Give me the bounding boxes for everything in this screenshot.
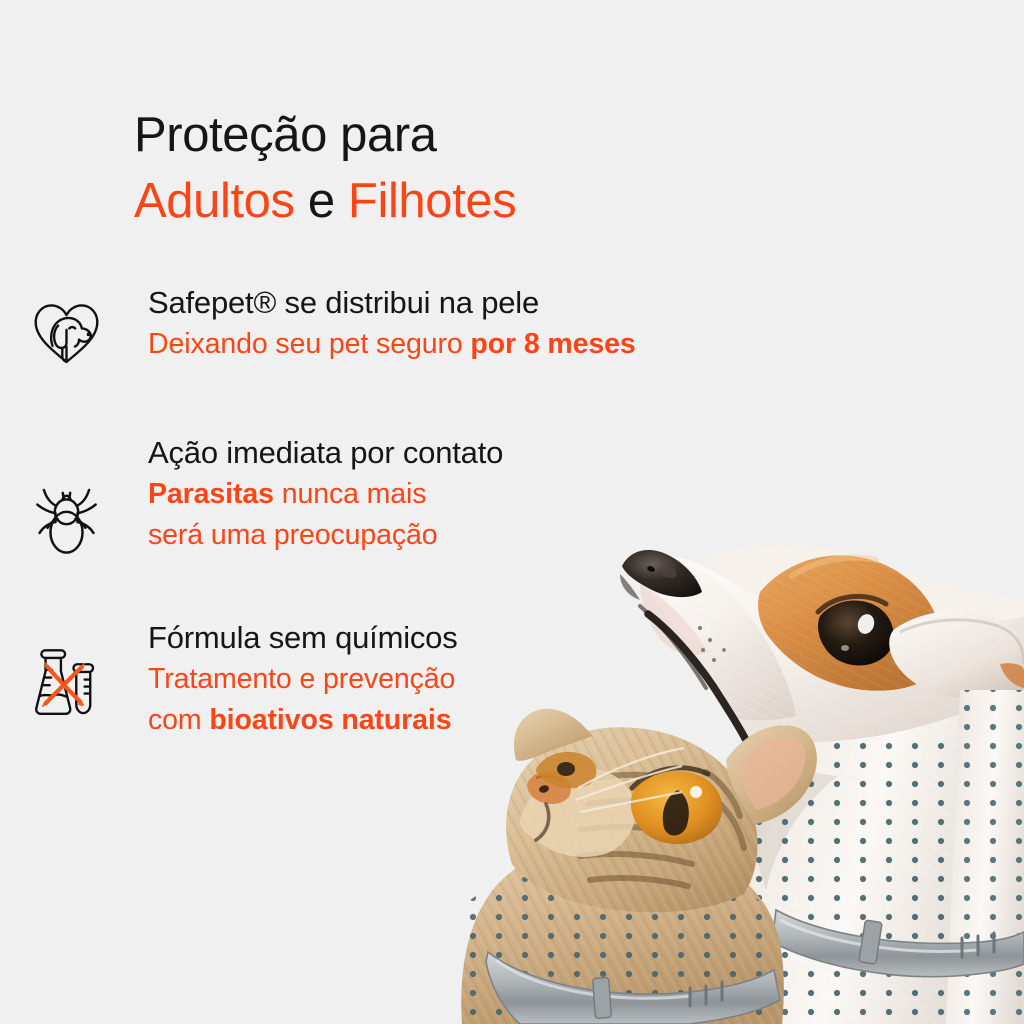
feature-item-chemical-free-formula: Fórmula sem químicos Tratamento e preven…	[0, 617, 880, 777]
feature-text-immediate-contact-action: Ação imediata por contato Parasitas nunc…	[100, 432, 880, 556]
feature-subtitle: Deixando seu pet seguro por 8 meses	[148, 324, 880, 365]
headline-line-2: Adultos e Filhotes	[134, 168, 914, 234]
feature-title: Ação imediata por contato	[148, 432, 880, 474]
feature-sub-bold: por 8 meses	[470, 328, 635, 360]
feature-text-skin-distribution: Safepet® se distribui na pele Deixando s…	[100, 282, 880, 365]
feature-title: Safepet® se distribui na pele	[148, 282, 880, 324]
cat-eye	[631, 768, 722, 844]
dog-collar	[772, 910, 1024, 977]
feature-sub-normal: com	[148, 704, 209, 736]
feature-subtitle-line-2: com bioativos naturais	[148, 700, 880, 741]
feature-item-skin-distribution: Safepet® se distribui na pele Deixando s…	[0, 282, 880, 432]
feature-text-chemical-free-formula: Fórmula sem químicos Tratamento e preven…	[100, 617, 880, 741]
cat-collar	[486, 952, 780, 1024]
feature-sub-bold: Parasitas	[148, 478, 274, 510]
feature-sub-bold: bioativos naturais	[209, 704, 451, 736]
headline-conjunction: e	[295, 174, 348, 228]
headline: Proteção para Adultos e Filhotes	[134, 102, 914, 234]
feature-subtitle-line-1: Parasitas nunca mais	[148, 474, 880, 515]
heart-dog-icon	[0, 282, 100, 380]
feature-sub-normal: Deixando seu pet seguro	[148, 328, 470, 360]
promo-poster: Proteção para Adultos e Filhotes	[0, 0, 1024, 1024]
headline-adultos: Adultos	[134, 174, 295, 228]
crossed-flask-icon	[0, 617, 100, 731]
feature-item-immediate-contact-action: Ação imediata por contato Parasitas nunc…	[0, 432, 880, 617]
tabby-stripes	[580, 772, 744, 886]
dot-pattern-cat	[460, 860, 800, 1024]
feature-title: Fórmula sem químicos	[148, 617, 880, 659]
headline-line-1: Proteção para	[134, 102, 914, 168]
tick-bug-icon	[0, 432, 100, 572]
feature-sub-normal: nunca mais	[274, 478, 427, 510]
feature-subtitle-line-1: Tratamento e prevenção	[148, 659, 880, 700]
headline-filhotes: Filhotes	[348, 174, 516, 228]
feature-subtitle-line-2: será uma preocupação	[148, 515, 880, 556]
feature-list: Safepet® se distribui na pele Deixando s…	[0, 282, 880, 777]
